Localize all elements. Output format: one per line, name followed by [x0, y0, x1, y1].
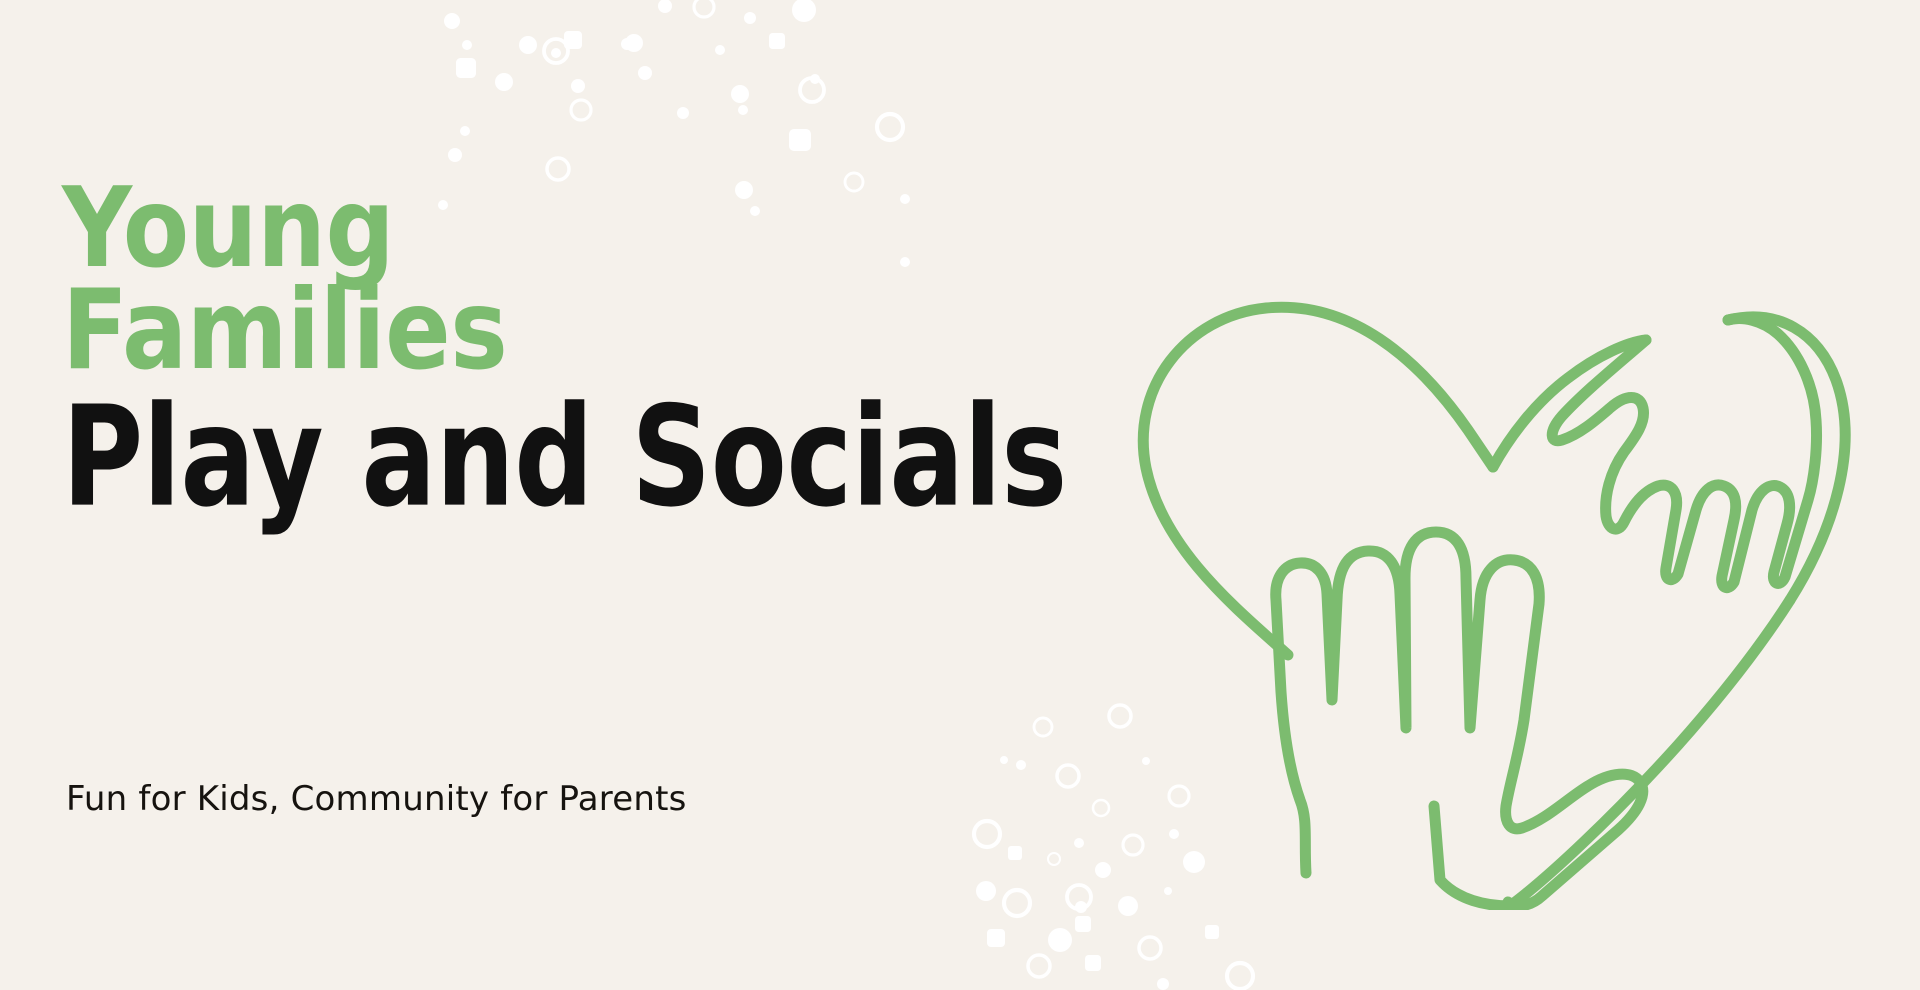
bubble-dot: [621, 38, 633, 50]
bubble-ring: [1004, 890, 1030, 916]
bubble-dot: [519, 36, 537, 54]
bubble-ring: [1227, 963, 1253, 989]
bubble-ring: [694, 0, 714, 17]
bubble-dot: [1016, 760, 1026, 770]
bubble-dot: [625, 34, 643, 52]
bubble-ring: [544, 39, 568, 63]
bubble-square: [987, 929, 1005, 947]
bubble-square: [769, 33, 785, 49]
bubble-dot: [1157, 978, 1169, 990]
tagline: Fun for Kids, Community for Parents: [66, 779, 687, 819]
bubble-dot: [677, 107, 689, 119]
bubble-ring: [1048, 853, 1060, 865]
heart-outline-left: [1143, 307, 1493, 655]
bubble-ring: [1034, 718, 1052, 736]
bubble-dot: [444, 13, 460, 29]
bubble-ring: [974, 821, 1000, 847]
bubble-ring: [800, 78, 824, 102]
bubble-square: [456, 58, 476, 78]
headline-line-families: Families: [62, 278, 1011, 384]
child-hand-outline: [1276, 532, 1643, 906]
bubble-dot: [1048, 928, 1072, 952]
bubble-dot: [810, 74, 820, 84]
bubble-dot: [744, 12, 756, 24]
bubble-dot: [460, 126, 470, 136]
bubble-square: [1205, 925, 1219, 939]
bubble-ring: [571, 100, 591, 120]
bubble-ring: [1028, 955, 1050, 977]
bubble-dot: [738, 105, 748, 115]
bubble-dot: [462, 40, 472, 50]
bubble-dot: [448, 148, 462, 162]
bubble-square: [1085, 955, 1101, 971]
heart-outline-right-side: [1510, 600, 1790, 906]
bubble-dot: [1000, 756, 1008, 764]
headline-line-play-and-socials: Play and Socials: [62, 388, 960, 527]
bubble-dot: [1095, 862, 1111, 878]
bubble-dot: [715, 45, 725, 55]
bubble-dot: [1075, 901, 1087, 913]
bubble-square: [789, 129, 811, 151]
bubble-dot: [976, 881, 996, 901]
bubble-dot: [551, 48, 561, 58]
bubble-dot: [792, 0, 816, 22]
bubble-ring: [1093, 800, 1109, 816]
bubble-dot: [638, 66, 652, 80]
headline-block: Young Families Play and Socials: [62, 176, 1082, 514]
bubble-ring: [1067, 885, 1091, 909]
heart-with-two-hands-illustration: [1118, 180, 1888, 910]
bubble-ring: [877, 114, 903, 140]
bubble-ring: [1139, 937, 1161, 959]
bubble-dot: [571, 79, 585, 93]
bubble-dot: [731, 85, 749, 103]
bubble-dot: [495, 73, 513, 91]
bubble-square: [1008, 846, 1022, 860]
bubble-square: [1075, 916, 1091, 932]
bubble-ring: [1057, 765, 1079, 787]
promotional-banner: Young Families Play and Socials Fun for …: [0, 0, 1920, 990]
bubble-square: [564, 31, 582, 49]
heart-outline-bottom-tip: [1434, 806, 1510, 906]
bubble-dot: [1074, 838, 1084, 848]
bubble-dot: [658, 0, 672, 13]
